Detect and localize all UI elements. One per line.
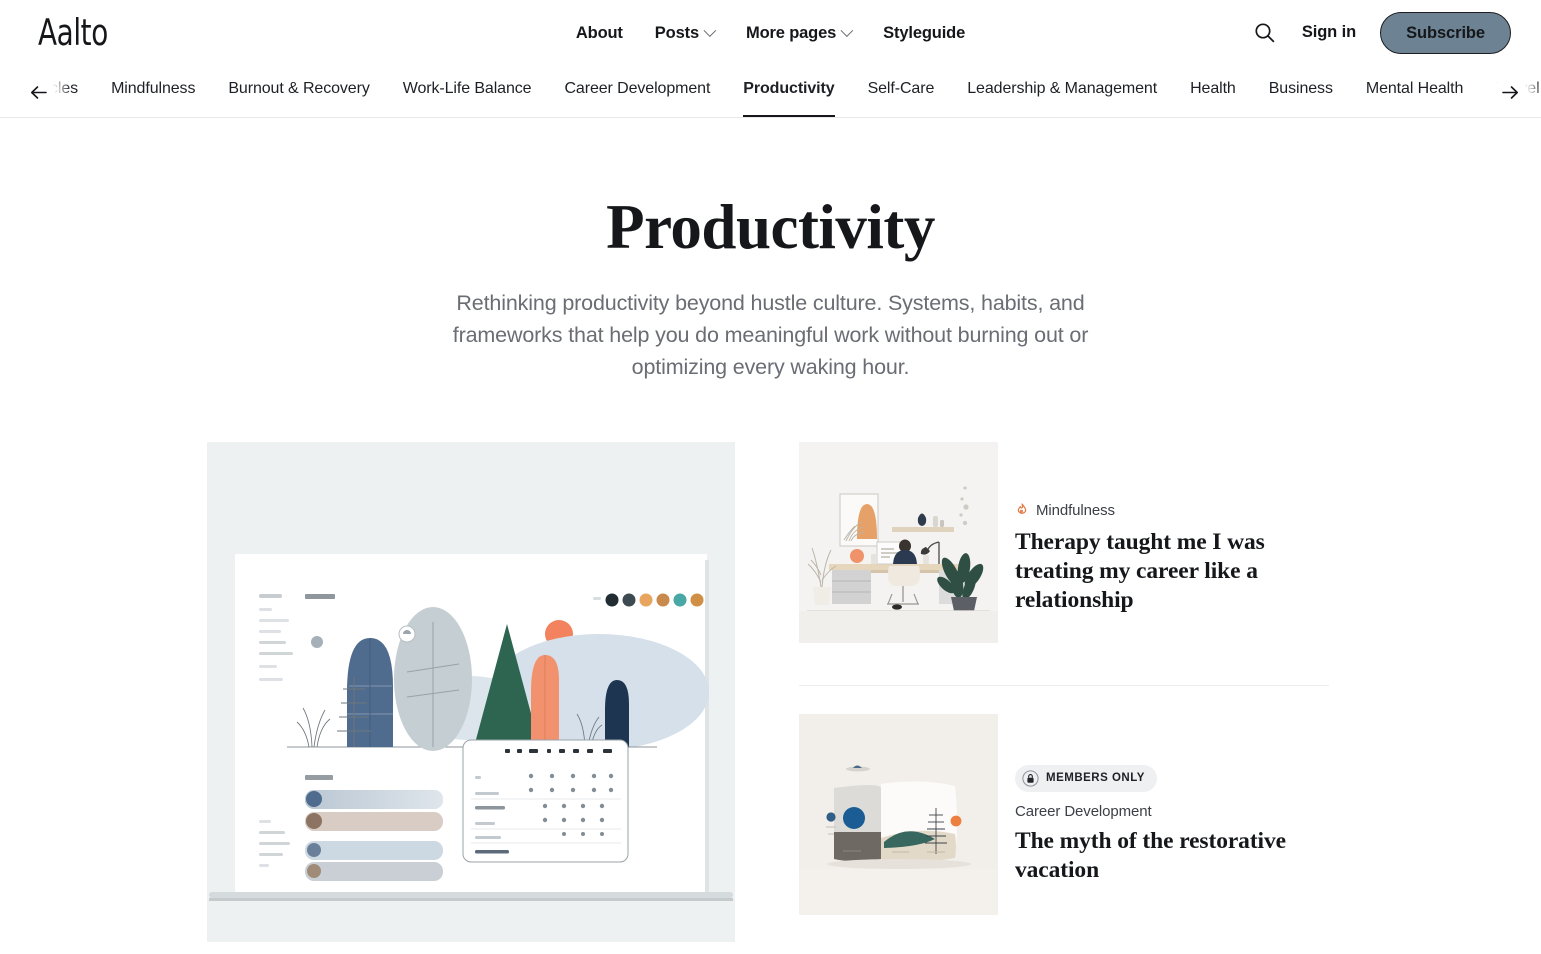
category-scroll-left-button[interactable] xyxy=(22,76,55,109)
secondary-posts-column: Mindfulness Therapy taught me I was trea… xyxy=(735,442,1334,942)
nav-item-about[interactable]: About xyxy=(576,24,623,43)
flame-icon xyxy=(1015,503,1029,518)
nav-item-more-pages[interactable]: More pages xyxy=(746,24,851,43)
post-title[interactable]: Therapy taught me I was treating my care… xyxy=(1015,528,1334,616)
category-item-health[interactable]: Health xyxy=(1190,66,1236,117)
category-item-burnout-recovery[interactable]: Burnout & Recovery xyxy=(228,66,369,117)
nav-item-about-label: About xyxy=(576,24,623,43)
category-item-self-care[interactable]: Self-Care xyxy=(868,66,935,117)
page-hero: Productivity Rethinking productivity bey… xyxy=(0,118,1541,384)
featured-post-image[interactable] xyxy=(207,442,735,942)
post-card-body: Mindfulness Therapy taught me I was trea… xyxy=(1015,442,1334,616)
category-item-business[interactable]: Business xyxy=(1269,66,1333,117)
post-card-body: MEMBERS ONLY Career Development The myth… xyxy=(1015,714,1334,886)
nav-item-styleguide-label: Styleguide xyxy=(883,24,965,43)
chevron-down-icon xyxy=(703,24,716,37)
page-description: Rethinking productivity beyond hustle cu… xyxy=(421,288,1121,383)
nav-item-more-pages-label: More pages xyxy=(746,24,836,43)
post-tag[interactable]: Career Development xyxy=(1015,803,1334,820)
post-card[interactable]: MEMBERS ONLY Career Development The myth… xyxy=(799,714,1334,915)
category-item-productivity[interactable]: Productivity xyxy=(743,66,834,117)
category-item-career-development[interactable]: Career Development xyxy=(564,66,710,117)
search-icon[interactable] xyxy=(1252,20,1278,46)
post-card[interactable]: Mindfulness Therapy taught me I was trea… xyxy=(799,442,1334,643)
header-actions: Sign in Subscribe xyxy=(1252,12,1511,54)
featured-post-column xyxy=(207,442,735,942)
members-only-badge: MEMBERS ONLY xyxy=(1015,765,1157,792)
category-item-mental-health[interactable]: Mental Health xyxy=(1366,66,1463,117)
category-item-mindfulness[interactable]: Mindfulness xyxy=(111,66,195,117)
home-office-desk-illustration xyxy=(799,442,998,643)
decorative-pillows-illustration xyxy=(799,714,998,915)
site-logo[interactable]: Aalto xyxy=(38,15,108,52)
laptop-dashboard-illustration xyxy=(207,442,735,942)
page-title: Productivity xyxy=(0,194,1541,260)
category-nav: cles Mindfulness Burnout & Recovery Work… xyxy=(0,66,1541,118)
chevron-down-icon xyxy=(840,24,853,37)
arrow-left-icon xyxy=(30,85,47,100)
subscribe-button[interactable]: Subscribe xyxy=(1380,12,1511,54)
post-grid: Mindfulness Therapy taught me I was trea… xyxy=(0,442,1541,942)
spacer xyxy=(799,686,1334,714)
site-header: Aalto About Posts More pages Styleguide … xyxy=(0,0,1541,66)
post-thumbnail[interactable] xyxy=(799,442,998,643)
category-scroll-right-button[interactable] xyxy=(1494,76,1527,109)
category-item-work-life-balance[interactable]: Work-Life Balance xyxy=(403,66,532,117)
primary-nav: About Posts More pages Styleguide xyxy=(576,24,965,43)
post-tag-label: Mindfulness xyxy=(1036,502,1115,519)
nav-item-posts[interactable]: Posts xyxy=(655,24,714,43)
post-thumbnail[interactable] xyxy=(799,714,998,915)
post-tag[interactable]: Mindfulness xyxy=(1015,502,1334,519)
category-list[interactable]: cles Mindfulness Burnout & Recovery Work… xyxy=(0,66,1541,117)
lock-icon xyxy=(1022,770,1039,787)
post-title[interactable]: The myth of the restorative vacation xyxy=(1015,827,1334,886)
sign-in-link[interactable]: Sign in xyxy=(1302,23,1356,42)
category-item-leadership-management[interactable]: Leadership & Management xyxy=(967,66,1157,117)
arrow-right-icon xyxy=(1502,85,1519,100)
nav-item-styleguide[interactable]: Styleguide xyxy=(883,24,965,43)
members-only-label: MEMBERS ONLY xyxy=(1046,772,1145,784)
nav-item-posts-label: Posts xyxy=(655,24,699,43)
